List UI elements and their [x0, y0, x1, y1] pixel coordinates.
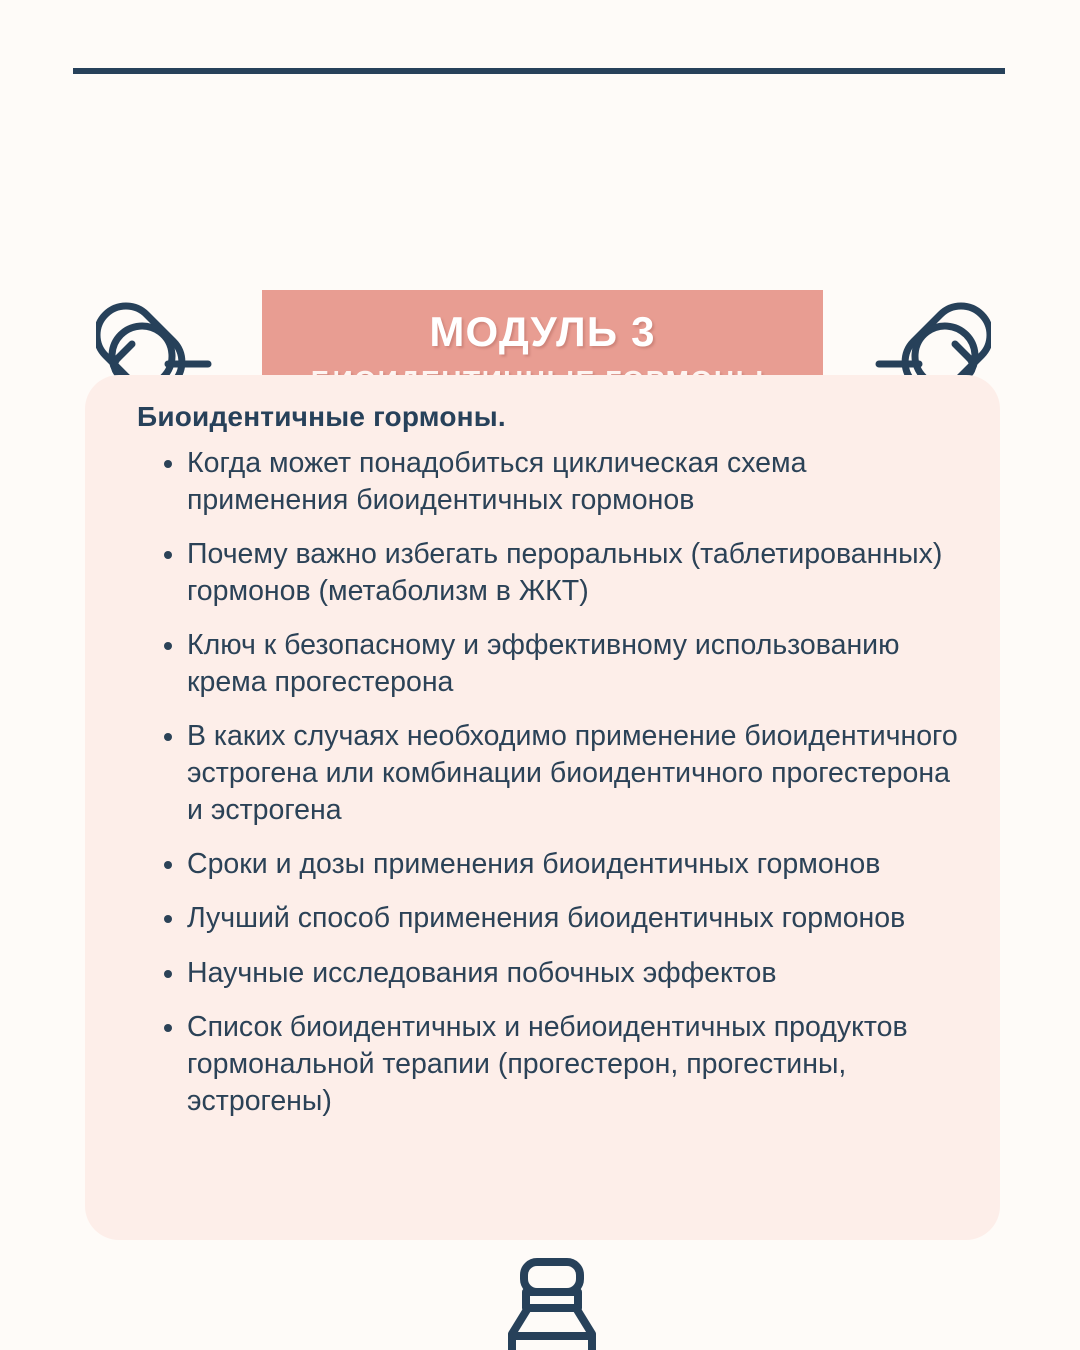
list-item: Лучший способ применения биоидентичных г… — [115, 900, 966, 937]
list-item: В каких случаях необходимо применение би… — [115, 718, 966, 829]
module-title: МОДУЛЬ 3 — [429, 309, 655, 354]
list-item: Список биоидентичных и небиоидентичных п… — [115, 1009, 966, 1120]
top-divider-rule — [73, 68, 1005, 74]
list-item: Почему важно избегать пероральных (табле… — [115, 536, 966, 610]
pill-bottle-icon — [498, 1258, 606, 1350]
list-item: Ключ к безопасному и эффективному исполь… — [115, 627, 966, 701]
list-item: Научные исследования побочных эффектов — [115, 955, 966, 992]
list-item: Сроки и дозы применения биоидентичных го… — [115, 846, 966, 883]
card-heading: Биоидентичные гормоны. — [137, 401, 966, 433]
topic-list: Когда может понадобиться циклическая схе… — [115, 445, 966, 1120]
content-card: Биоидентичные гормоны. Когда может понад… — [85, 375, 1000, 1240]
header: МОДУЛЬ 3 БИОИДЕНТИЧНЫЕ ГОРМОНЫ. КОК. — [0, 140, 1080, 340]
list-item: Когда может понадобиться циклическая схе… — [115, 445, 966, 519]
